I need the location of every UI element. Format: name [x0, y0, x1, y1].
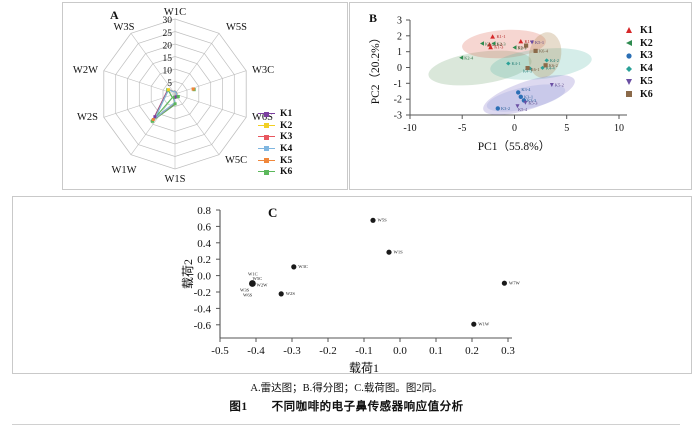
legend-b-label-k5: K5 — [640, 76, 653, 87]
legend-b-label-k3: K3 — [640, 50, 653, 61]
legend-b-marker-k6 — [624, 90, 634, 98]
panel-c-ytick-0.8: 0.8 — [197, 205, 211, 217]
panel-c-ytick-labels: 0.8 0.6 0.4 0.2 0.0 -0.2 -0.4 -0.6 — [194, 205, 212, 332]
panel-b-legend: K1 K2 K3 K4 K5 — [624, 24, 653, 101]
legend-a-marker-k2 — [264, 123, 269, 128]
point-label-w5c: W5C — [253, 276, 263, 281]
legend-b-label-k6: K6 — [640, 89, 653, 100]
figure-main-caption: 图1 不同咖啡的电子鼻传感器响应值分析 — [0, 398, 693, 414]
point-label-w2w: W2W — [257, 283, 269, 288]
panel-b-xtick--5: -5 — [458, 123, 466, 134]
panel-a-radar-chart: 30 25 20 15 10 5 W1C W5S W3C W6S W5C W1S… — [62, 2, 348, 190]
panel-c-ytick--0.2: -0.2 — [194, 287, 211, 299]
panel-b-ytick-0: 0 — [397, 63, 402, 74]
point-w3c[interactable] — [291, 264, 296, 269]
panel-c-xtick-0.2: 0.2 — [465, 345, 479, 357]
panel-b-ytick--3: -3 — [394, 111, 402, 122]
radar-label-w1w: W1W — [111, 165, 136, 176]
legend-b-label-k4: K4 — [640, 63, 653, 74]
panel-c-ytick-0.6: 0.6 — [197, 221, 211, 233]
panel-c-scatter-chart: 0.8 0.6 0.4 0.2 0.0 -0.2 -0.4 -0.6 -0.5 … — [12, 196, 692, 374]
panel-c-xtick--0.1: -0.1 — [355, 345, 372, 357]
legend-b-marker-k4 — [624, 65, 634, 73]
panel-b-ytick-3: 3 — [397, 16, 402, 27]
point-label-k5-3: K5-3 — [528, 100, 538, 105]
panel-c-xtick-0.1: 0.1 — [429, 345, 443, 357]
legend-b-item-k2[interactable]: K2 — [624, 37, 653, 50]
legend-a-item-k4[interactable]: K4 — [258, 143, 292, 155]
legend-b-label-k1: K1 — [640, 25, 653, 36]
legend-b-item-k3[interactable]: K3 — [624, 50, 653, 63]
point-label-w6s: W6S — [243, 293, 253, 298]
legend-a-label-k5: K5 — [280, 155, 292, 166]
point-w1w[interactable] — [471, 322, 476, 327]
panel-b-xaxis-title: PC1（55.8%） — [478, 140, 551, 153]
radar-label-w3s: W3S — [114, 22, 135, 33]
point-label-k5-4: K5-4 — [518, 107, 528, 112]
legend-a-label-k3: K3 — [280, 131, 292, 142]
legend-a-label-k1: K1 — [280, 108, 292, 119]
point-label-k6-3: K6-3 — [518, 45, 528, 50]
point-label-k5-1: K5-1 — [535, 40, 544, 45]
legend-b-marker-k5 — [624, 78, 634, 86]
panel-c-xtick--0.4: -0.4 — [247, 345, 265, 357]
radar-radial-ticks: 30 25 20 15 10 5 — [163, 16, 173, 89]
legend-b-item-k5[interactable]: K5 — [624, 75, 653, 88]
legend-a-label-k2: K2 — [280, 120, 292, 131]
legend-a-label-k4: K4 — [280, 143, 292, 154]
legend-a-line-k5 — [258, 160, 275, 161]
legend-b-marker-k1 — [624, 26, 634, 34]
point-label-w1w: W1W — [478, 321, 490, 326]
point-label-k6-4: K6-4 — [539, 49, 549, 54]
panel-c-xtick--0.2: -0.2 — [319, 345, 336, 357]
radar-tick-25: 25 — [163, 29, 173, 39]
point-k3-2[interactable] — [496, 106, 500, 110]
panel-c-letter: C — [268, 205, 277, 221]
radar-label-w2s: W2S — [77, 112, 98, 123]
point-label-k4-1: K4-1 — [512, 61, 521, 66]
radar-label-w2w: W2W — [73, 65, 98, 76]
figure-sub-caption: A.雷达图；B.得分图；C.载荷图。图2同。 — [0, 380, 693, 395]
point-label-w5s: W5S — [378, 218, 388, 223]
legend-a-marker-k6 — [264, 170, 269, 175]
panel-c-ytick-0.4: 0.4 — [197, 238, 211, 250]
legend-a-line-k6 — [258, 171, 275, 172]
panel-c-ytick--0.4: -0.4 — [194, 303, 212, 315]
point-label-k6-1: K6-1 — [531, 67, 540, 72]
legend-a-item-k6[interactable]: K6 — [258, 166, 292, 178]
figure-container: 30 25 20 15 10 5 W1C W5S W3C W6S W5C W1S… — [0, 0, 693, 433]
legend-a-line-k3 — [258, 136, 275, 137]
panel-b-xtick-5: 5 — [564, 123, 569, 134]
radar-tick-10: 10 — [163, 67, 173, 77]
footer-divider — [12, 424, 680, 425]
panel-c-xtick-0.0: 0.0 — [393, 345, 407, 357]
point-w7w[interactable] — [502, 281, 507, 286]
panel-b-xtick-labels: -10 -5 0 5 10 — [403, 123, 624, 134]
legend-b-item-k6[interactable]: K6 — [624, 88, 653, 101]
point-w5s[interactable] — [370, 218, 375, 223]
panel-c-yaxis-title: 载荷2 — [181, 259, 195, 289]
panel-c-ytick-0.0: 0.0 — [197, 271, 211, 283]
panel-b-letter: B — [369, 11, 377, 26]
radar-label-w5s: W5S — [226, 22, 247, 33]
panel-b-yaxis-title: PC2（20.2%） — [369, 32, 382, 105]
legend-a-line-k4 — [258, 148, 275, 149]
panel-b-ytick-1: 1 — [397, 47, 402, 58]
point-label-w1s: W1S — [394, 249, 404, 254]
radar-label-w5c: W5C — [225, 155, 247, 166]
point-cluster-left[interactable] — [249, 280, 256, 287]
panel-c-ytick--0.6: -0.6 — [194, 320, 212, 332]
point-k6-2[interactable] — [544, 63, 548, 67]
panel-a-letter: A — [110, 8, 119, 23]
legend-a-item-k1[interactable]: K1 — [258, 108, 292, 120]
panel-b-xtick-10: 10 — [614, 123, 624, 134]
panel-c-xtick-labels: -0.5 -0.4 -0.3 -0.2 -0.1 0.0 0.1 0.2 0.3 — [211, 345, 515, 357]
legend-a-marker-k5 — [264, 158, 269, 163]
point-label-k3-2: K3-2 — [501, 106, 510, 111]
legend-a-marker-k3 — [264, 135, 269, 140]
legend-a-marker-k1 — [264, 112, 269, 117]
legend-a-label-k6: K6 — [280, 166, 292, 177]
legend-b-item-k1[interactable]: K1 — [624, 24, 653, 37]
point-k3-1[interactable] — [519, 95, 523, 99]
radar-label-w1c: W1C — [164, 7, 186, 18]
radar-grid — [104, 19, 246, 169]
point-w2s[interactable] — [279, 291, 284, 296]
panel-c-ytick-0.2: 0.2 — [197, 254, 211, 266]
point-k3-4[interactable] — [516, 90, 520, 94]
point-label-w3c: W3C — [298, 264, 308, 269]
panel-c-points: W5S W1S W3C W7W W1W W2S W1C W5C W3S W6S … — [240, 218, 521, 327]
panel-a-legend: K1 K2 K3 K4 K5 K6 — [258, 108, 292, 178]
panel-b-ytick-2: 2 — [397, 31, 402, 42]
legend-b-label-k2: K2 — [640, 38, 653, 49]
radar-tick-15: 15 — [163, 54, 173, 64]
point-k6-4[interactable] — [534, 49, 538, 53]
radar-tick-20: 20 — [163, 42, 173, 52]
point-w1s[interactable] — [386, 250, 391, 255]
panel-b-ytick-labels: 3 2 1 0 -1 -2 -3 — [394, 16, 402, 122]
point-label-k1-1: K1-1 — [497, 34, 506, 39]
legend-b-marker-k3 — [624, 52, 634, 60]
legend-a-item-k3[interactable]: K3 — [258, 131, 292, 143]
panel-c-xtick--0.3: -0.3 — [283, 345, 301, 357]
point-label-k2-3: K2-3 — [497, 41, 507, 46]
legend-a-item-k5[interactable]: K5 — [258, 154, 292, 166]
legend-a-line-k2 — [258, 125, 275, 126]
panel-c-xtick--0.5: -0.5 — [211, 345, 229, 357]
legend-a-item-k2[interactable]: K2 — [258, 120, 292, 132]
radar-label-w3c: W3C — [252, 65, 274, 76]
legend-a-marker-k4 — [264, 146, 269, 151]
point-label-k5-2: K5-2 — [555, 83, 564, 88]
point-label-w7w: W7W — [509, 280, 521, 285]
legend-b-item-k4[interactable]: K4 — [624, 62, 653, 75]
panel-c-xtick-0.3: 0.3 — [501, 345, 515, 357]
radar-label-w1s: W1S — [165, 174, 186, 185]
legend-b-marker-k2 — [624, 39, 634, 47]
panel-b-ytick--2: -2 — [394, 95, 402, 106]
panel-b-xtick-0: 0 — [512, 123, 517, 134]
point-label-k3-4: K3-4 — [521, 87, 531, 92]
panel-b-xtick--10: -10 — [403, 123, 416, 134]
legend-a-line-k1 — [258, 113, 275, 114]
radar-tick-5: 5 — [167, 79, 172, 89]
point-label-k6-2: K6-2 — [549, 63, 558, 68]
panel-c-xaxis-title: 载荷1 — [349, 361, 379, 374]
panel-b-ytick--1: -1 — [394, 79, 402, 90]
point-label-w2s: W2S — [286, 291, 296, 296]
point-k6-1[interactable] — [526, 66, 530, 70]
radar-series-group — [151, 87, 196, 122]
point-label-k2-4: K2-4 — [464, 56, 474, 61]
